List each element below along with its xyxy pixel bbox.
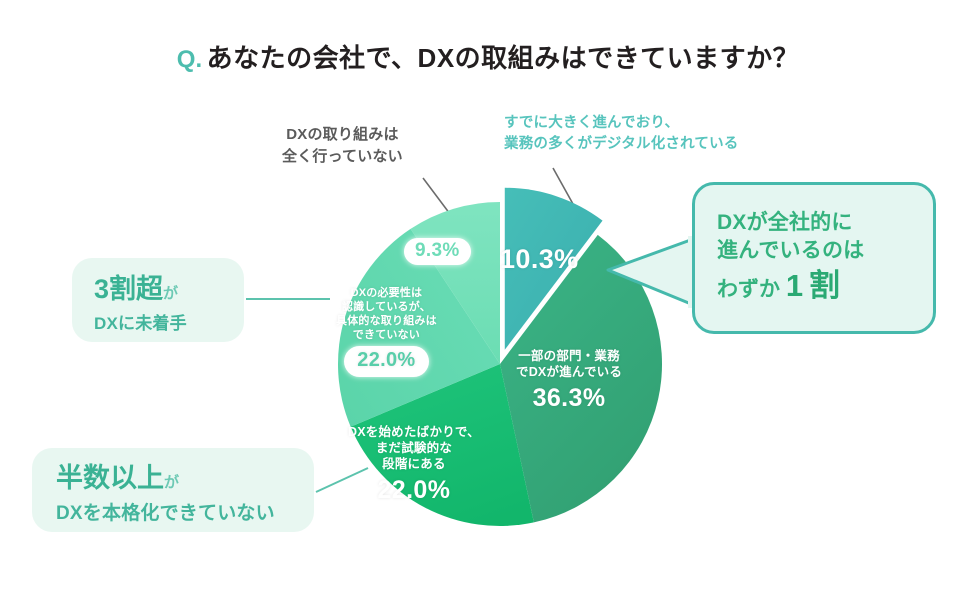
callout-not-started: 3割超が DXに未着手 bbox=[72, 258, 244, 342]
callout-right-line3-post: 割 bbox=[809, 268, 840, 303]
callout-left-upper-line2: DXに未着手 bbox=[94, 309, 244, 334]
slice-label-10: 10.3% bbox=[500, 240, 579, 277]
callout-not-full-scale: 半数以上が DXを本格化できていない bbox=[32, 448, 314, 532]
slice-pct-22b: 22.0% bbox=[348, 474, 480, 506]
callout-left-upper-line1: 3割超が bbox=[94, 267, 244, 306]
slice-caption-22a-l2: 認識しているが、 bbox=[336, 300, 437, 314]
callout-right-line3-pre: わずか bbox=[717, 278, 780, 301]
callout-left-upper-strong: 3割超 bbox=[94, 274, 163, 304]
question-prefix: Q. bbox=[177, 46, 202, 73]
callout-left-lower-line2: DXを本格化できていない bbox=[56, 498, 314, 525]
slice-pct-badge-9: 9.3% bbox=[404, 238, 471, 265]
outside-label-slice5: DXの取り組みは 全く行っていない bbox=[282, 124, 403, 168]
outside-label-slice1: すでに大きく進んでおり、 業務の多くがデジタル化されている bbox=[504, 113, 738, 155]
callout-right-tail-path bbox=[608, 238, 696, 306]
question-text: あなたの会社で、DXの取組みはできていますか？ bbox=[207, 43, 800, 73]
callout-left-lower-strong: 半数以上 bbox=[56, 463, 164, 493]
callout-right-line3-big: 1 bbox=[786, 268, 803, 303]
slice-caption-22b-l2: まだ試験的な bbox=[348, 440, 480, 456]
callout-left-lower-line1: 半数以上が bbox=[56, 456, 314, 495]
callout-left-lower-particle: が bbox=[164, 474, 179, 491]
slice-label-22-trial: DXを始めたばかりで、 まだ試験的な 段階にある 22.0% bbox=[348, 424, 480, 506]
outside-label-slice5-l1: DXの取り組みは bbox=[282, 124, 403, 146]
slice-caption-22a-l1: DXの必要性は bbox=[336, 286, 437, 300]
slice-pct-10: 10.3% bbox=[500, 242, 579, 277]
slice-caption-22b-l3: 段階にある bbox=[348, 456, 480, 472]
slice-pct-36: 36.3% bbox=[516, 382, 622, 414]
slice-pct-badge-22a: 22.0% bbox=[344, 346, 428, 377]
outside-label-slice1-l1: すでに大きく進んでおり、 bbox=[504, 113, 738, 134]
slice-label-9: 9.3% bbox=[404, 234, 471, 265]
outside-label-slice5-l2: 全く行っていない bbox=[282, 146, 403, 168]
slice-label-36: 一部の部門・業務 でDXが進んでいる 36.3% bbox=[516, 348, 622, 414]
slice-caption-22a-l4: できていない bbox=[336, 328, 437, 342]
callout-dx-company-wide: DXが全社的に 進んでいるのは わずか 1 割 bbox=[692, 182, 936, 334]
callout-right-line3: わずか 1 割 bbox=[717, 265, 933, 307]
callout-right-line1: DXが全社的に bbox=[717, 209, 933, 237]
callout-right-line2: 進んでいるのは bbox=[717, 237, 933, 265]
outside-label-slice1-l2: 業務の多くがデジタル化されている bbox=[504, 134, 738, 155]
callout-right-tail bbox=[604, 236, 700, 310]
slice-caption-36-l2: でDXが進んでいる bbox=[516, 364, 622, 380]
slice-caption-22a-l3: 具体的な取り組みは bbox=[336, 314, 437, 328]
slice-label-22-aware: DXの必要性は 認識しているが、 具体的な取り組みは できていない 22.0% bbox=[336, 286, 437, 377]
slice-caption-36-l1: 一部の部門・業務 bbox=[516, 348, 622, 364]
callout-left-upper-particle: が bbox=[163, 285, 178, 302]
slice-caption-22b-l1: DXを始めたばかりで、 bbox=[348, 424, 480, 440]
page-title: Q. あなたの会社で、DXの取組みはできていますか？ bbox=[0, 38, 976, 75]
